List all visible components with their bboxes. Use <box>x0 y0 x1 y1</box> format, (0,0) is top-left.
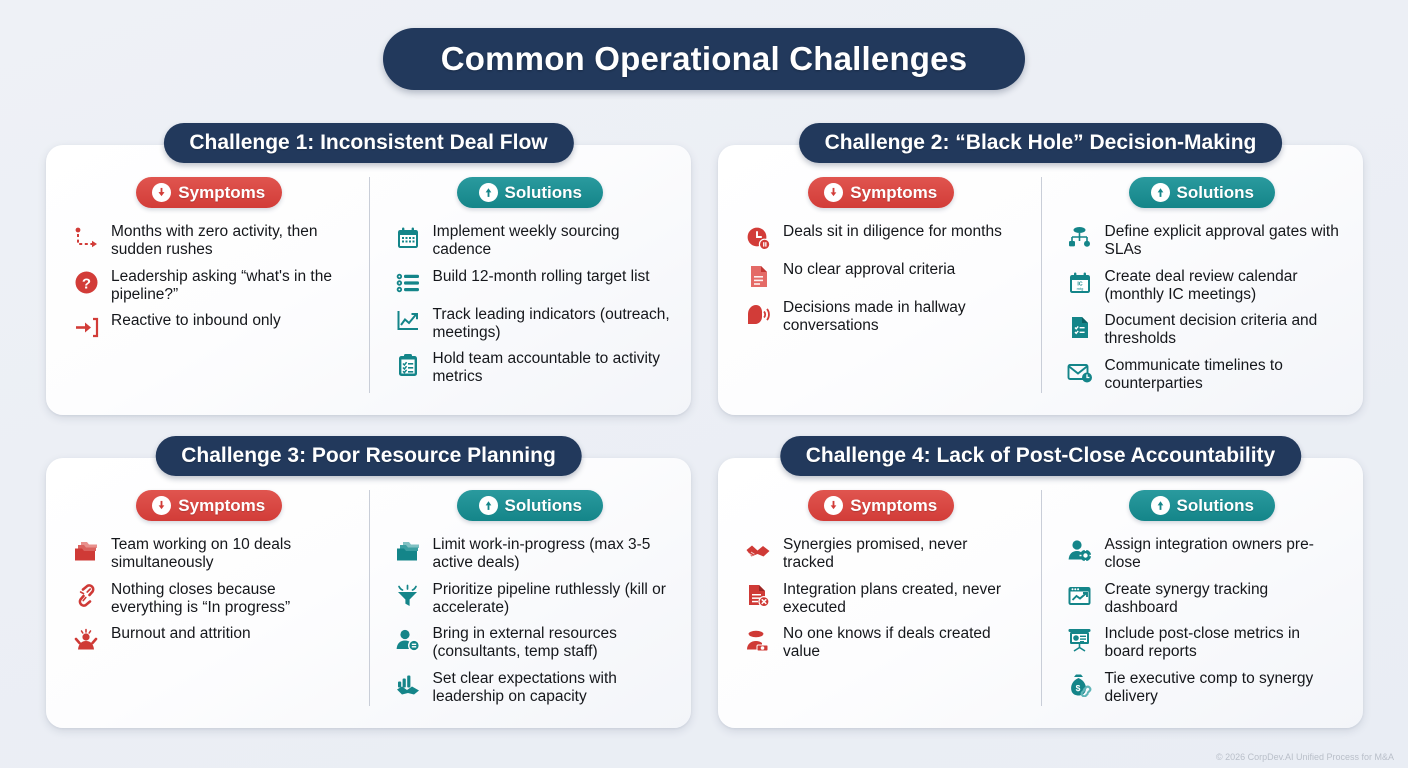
money-bag-link-icon: $ <box>1066 670 1094 700</box>
presentation-board-icon <box>1066 625 1094 655</box>
symptoms-badge: Symptoms <box>808 490 954 521</box>
challenge-card-3-header: Challenge 3: Poor Resource Planning <box>155 436 582 476</box>
list-item-text: No one knows if deals created value <box>783 624 1022 662</box>
solutions-badge-label: Solutions <box>505 496 582 516</box>
solutions-list-3: Limit work-in-progress (max 3-5 active d… <box>388 535 674 706</box>
list-item-text: Assign integration owners pre-close <box>1105 535 1344 573</box>
symptoms-badge-label: Symptoms <box>850 183 937 203</box>
handshake-chart-icon <box>394 670 422 700</box>
symptoms-badge: Symptoms <box>808 177 954 208</box>
handshake-icon <box>744 536 772 566</box>
challenge-card-1: Challenge 1: Inconsistent Deal Flow Symp… <box>46 145 691 415</box>
arrow-up-circle-icon <box>479 496 498 515</box>
challenge-card-4-header: Challenge 4: Lack of Post-Close Accounta… <box>780 436 1301 476</box>
list-item-text: Define explicit approval gates with SLAs <box>1105 222 1344 260</box>
symptoms-badge: Symptoms <box>136 490 282 521</box>
broken-link-icon <box>72 581 100 611</box>
flowchart-icon <box>1066 223 1094 253</box>
person-money-icon <box>744 625 772 655</box>
list-item: Implement weekly sourcing cadence <box>394 222 672 260</box>
clock-pause-icon <box>744 223 772 253</box>
arrow-up-circle-icon <box>1151 496 1170 515</box>
solutions-badge-label: Solutions <box>505 183 582 203</box>
list-item: Include post-close metrics in board repo… <box>1066 624 1344 662</box>
list-item: Nothing closes because everything is “In… <box>72 580 350 618</box>
list-item-text: Synergies promised, never tracked <box>783 535 1022 573</box>
user-gear-icon <box>1066 536 1094 566</box>
list-item-text: Bring in external resources (consultants… <box>433 624 672 662</box>
page-title-text: Common Operational Challenges <box>441 40 968 78</box>
speaking-head-icon <box>744 299 772 329</box>
list-item: Limit work-in-progress (max 3-5 active d… <box>394 535 672 573</box>
arrow-down-circle-icon <box>824 183 843 202</box>
list-item-text: Document decision criteria and threshold… <box>1105 311 1344 349</box>
list-item-text: Include post-close metrics in board repo… <box>1105 624 1344 662</box>
document-x-icon <box>744 581 772 611</box>
symptoms-badge-label: Symptoms <box>850 496 937 516</box>
solutions-badge: Solutions <box>457 177 603 208</box>
symptoms-badge: Symptoms <box>136 177 282 208</box>
list-item-text: Prioritize pipeline ruthlessly (kill or … <box>433 580 672 618</box>
list-item-text: Team working on 10 deals simultaneously <box>111 535 350 573</box>
list-item-text: Set clear expectations with leadership o… <box>433 669 672 707</box>
challenge-card-1-header: Challenge 1: Inconsistent Deal Flow <box>163 123 573 163</box>
symptoms-badge-label: Symptoms <box>178 496 265 516</box>
list-item-text: Nothing closes because everything is “In… <box>111 580 350 618</box>
list-item: Decisions made in hallway conversations <box>744 298 1022 336</box>
solutions-badge-label: Solutions <box>1177 183 1254 203</box>
solutions-list-4: Assign integration owners pre-close Crea… <box>1060 535 1346 706</box>
challenge-card-4: Challenge 4: Lack of Post-Close Accounta… <box>718 458 1363 728</box>
list-item-text: No clear approval criteria <box>783 260 955 279</box>
list-item-text: Communicate timelines to counterparties <box>1105 356 1344 394</box>
list-item-text: Create synergy tracking dashboard <box>1105 580 1344 618</box>
list-item: Document decision criteria and threshold… <box>1066 311 1344 349</box>
list-item-text: Burnout and attrition <box>111 624 251 643</box>
list-item: Assign integration owners pre-close <box>1066 535 1344 573</box>
arrow-down-circle-icon <box>152 183 171 202</box>
list-item-text: Reactive to inbound only <box>111 311 281 330</box>
svg-text:?: ? <box>81 276 90 293</box>
symptoms-list-1: Months with zero activity, then sudden r… <box>66 222 352 342</box>
list-item: No clear approval criteria <box>744 260 1022 291</box>
infographic-canvas: Common Operational Challenges Challenge … <box>0 0 1408 768</box>
line-chart-icon <box>394 306 422 336</box>
list-item: ICmtg Create deal review calendar (month… <box>1066 267 1344 305</box>
list-item: Communicate timelines to counterparties <box>1066 356 1344 394</box>
burnout-person-icon <box>72 625 100 655</box>
folder-stack-icon <box>394 536 422 566</box>
solutions-list-1: Implement weekly sourcing cadence Build … <box>388 222 674 387</box>
footer-copyright: © 2026 CorpDev.AI Unified Process for M&… <box>1216 752 1394 762</box>
symptoms-list-4: Synergies promised, never tracked Integr… <box>738 535 1024 662</box>
challenge-card-3: Challenge 3: Poor Resource Planning Symp… <box>46 458 691 728</box>
arrow-into-bracket-icon <box>72 312 100 342</box>
list-item: Track leading indicators (outreach, meet… <box>394 305 672 343</box>
list-item: Burnout and attrition <box>72 624 350 655</box>
list-item: No one knows if deals created value <box>744 624 1022 662</box>
list-item: Team working on 10 deals simultaneously <box>72 535 350 573</box>
calendar-ic-icon: ICmtg <box>1066 268 1094 298</box>
list-item: Deals sit in diligence for months <box>744 222 1022 253</box>
document-blank-icon <box>744 261 772 291</box>
list-item-text: Integration plans created, never execute… <box>783 580 1022 618</box>
challenge-card-2-header: Challenge 2: “Black Hole” Decision-Makin… <box>799 123 1283 163</box>
solutions-list-2: Define explicit approval gates with SLAs… <box>1060 222 1346 393</box>
symptoms-badge-label: Symptoms <box>178 183 265 203</box>
dotted-arrow-icon <box>72 223 100 253</box>
list-item: Hold team accountable to activity metric… <box>394 349 672 387</box>
arrow-up-circle-icon <box>479 183 498 202</box>
challenge-card-4-title: Challenge 4: Lack of Post-Close Accounta… <box>806 444 1275 468</box>
list-item: Set clear expectations with leadership o… <box>394 669 672 707</box>
solutions-badge: Solutions <box>457 490 603 521</box>
list-item: Build 12-month rolling target list <box>394 267 672 298</box>
list-item: Reactive to inbound only <box>72 311 350 342</box>
symptoms-list-2: Deals sit in diligence for months No cle… <box>738 222 1024 336</box>
bullet-list-icon <box>394 268 422 298</box>
symptoms-list-3: Team working on 10 deals simultaneously … <box>66 535 352 655</box>
list-item-text: Create deal review calendar (monthly IC … <box>1105 267 1344 305</box>
challenge-card-2: Challenge 2: “Black Hole” Decision-Makin… <box>718 145 1363 415</box>
funnel-icon <box>394 581 422 611</box>
folder-stack-icon <box>72 536 100 566</box>
solutions-badge: Solutions <box>1129 177 1275 208</box>
list-item-text: Hold team accountable to activity metric… <box>433 349 672 387</box>
challenge-card-3-title: Challenge 3: Poor Resource Planning <box>181 444 556 468</box>
svg-text:mtg: mtg <box>1076 286 1083 291</box>
question-circle-icon: ? <box>72 268 100 298</box>
user-add-icon <box>394 625 422 655</box>
list-item-text: Tie executive comp to synergy delivery <box>1105 669 1344 707</box>
list-item-text: Build 12-month rolling target list <box>433 267 650 286</box>
dashboard-chart-icon <box>1066 581 1094 611</box>
list-item-text: Decisions made in hallway conversations <box>783 298 1022 336</box>
document-check-icon <box>1066 312 1094 342</box>
list-item-text: Limit work-in-progress (max 3-5 active d… <box>433 535 672 573</box>
list-item-text: Track leading indicators (outreach, meet… <box>433 305 672 343</box>
list-item-text: Leadership asking “what's in the pipelin… <box>111 267 350 305</box>
list-item: Prioritize pipeline ruthlessly (kill or … <box>394 580 672 618</box>
list-item: $ Tie executive comp to synergy delivery <box>1066 669 1344 707</box>
list-item: Synergies promised, never tracked <box>744 535 1022 573</box>
list-item: Define explicit approval gates with SLAs <box>1066 222 1344 260</box>
challenge-card-2-title: Challenge 2: “Black Hole” Decision-Makin… <box>825 131 1257 155</box>
list-item-text: Months with zero activity, then sudden r… <box>111 222 350 260</box>
arrow-down-circle-icon <box>152 496 171 515</box>
arrow-up-circle-icon <box>1151 183 1170 202</box>
list-item-text: Deals sit in diligence for months <box>783 222 1002 241</box>
arrow-down-circle-icon <box>824 496 843 515</box>
list-item-text: Implement weekly sourcing cadence <box>433 222 672 260</box>
calendar-icon <box>394 223 422 253</box>
list-item: ? Leadership asking “what's in the pipel… <box>72 267 350 305</box>
clipboard-check-icon <box>394 350 422 380</box>
solutions-badge-label: Solutions <box>1177 496 1254 516</box>
list-item: Bring in external resources (consultants… <box>394 624 672 662</box>
list-item: Months with zero activity, then sudden r… <box>72 222 350 260</box>
challenge-card-1-title: Challenge 1: Inconsistent Deal Flow <box>189 131 547 155</box>
list-item: Create synergy tracking dashboard <box>1066 580 1344 618</box>
svg-text:$: $ <box>1076 682 1081 692</box>
list-item: Integration plans created, never execute… <box>744 580 1022 618</box>
page-title: Common Operational Challenges <box>383 28 1025 90</box>
envelope-clock-icon <box>1066 357 1094 387</box>
solutions-badge: Solutions <box>1129 490 1275 521</box>
